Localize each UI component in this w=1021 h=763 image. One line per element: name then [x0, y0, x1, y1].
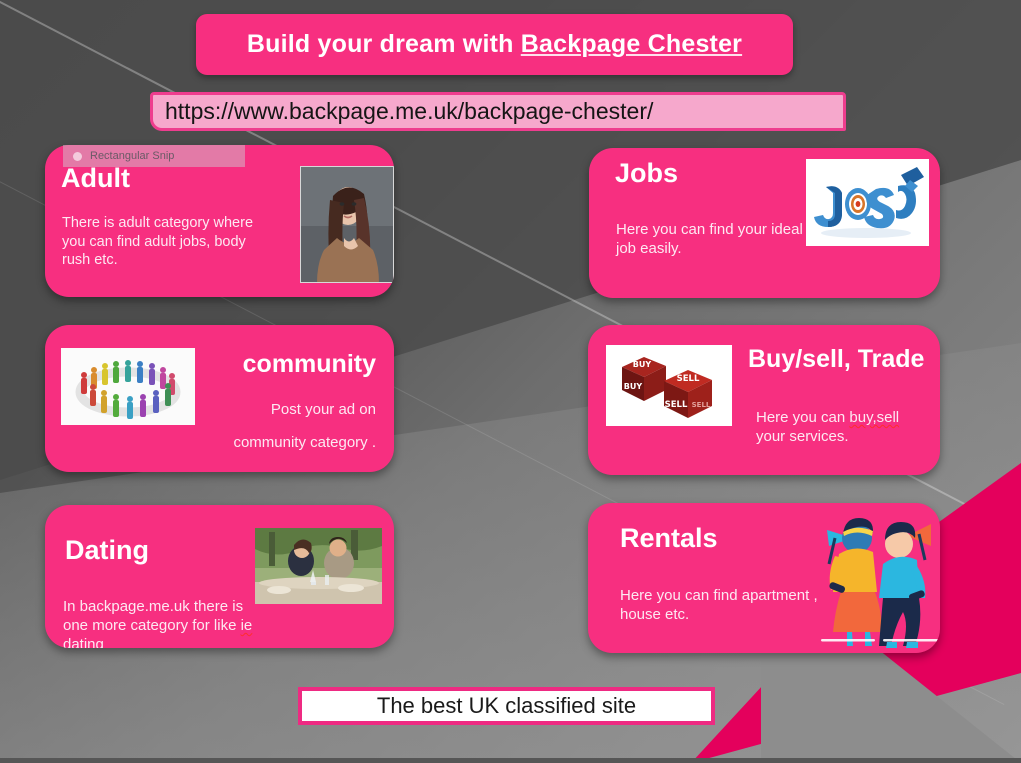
slide-title-brand: Backpage Chester — [521, 30, 742, 58]
card-title-adult: Adult — [61, 163, 130, 194]
dating-couple-photo — [255, 528, 382, 604]
slide-title: Build your dream with Backpage Chester — [247, 30, 742, 59]
slide-title-plain: Build your dream with — [247, 30, 521, 58]
card-body-dating-misspelled: ie — [241, 617, 253, 634]
card-body-dating: In backpage.me.uk there is one more cate… — [63, 597, 293, 648]
card-body-trade-line2: your services. — [756, 427, 936, 446]
card-body-dating-line3: dating — [63, 635, 293, 648]
category-card-adult[interactable]: Adult There is adult category where you … — [45, 145, 394, 297]
url-bar[interactable]: https://www.backpage.me.uk/backpage-ches… — [150, 92, 846, 131]
presentation-slide: Build your dream with Backpage Chester h… — [0, 0, 1021, 763]
card-title-rentals: Rentals — [620, 523, 718, 554]
card-body-trade-line1: Here you can buy,sell — [756, 408, 936, 427]
svg-text:SELL: SELL — [677, 374, 700, 384]
card-body-jobs: Here you can find your ideal job easily. — [616, 220, 806, 258]
card-body-dating-line2: one more category for like ie — [63, 616, 293, 635]
community-people-ring-image — [61, 348, 195, 425]
snip-dot-icon — [73, 152, 82, 161]
category-card-trade[interactable]: Buy/sell, Trade Here you can buy,sell yo… — [588, 325, 940, 475]
card-title-trade: Buy/sell, Trade — [748, 345, 924, 374]
adult-portrait-photo — [300, 166, 394, 283]
svg-text:BUY: BUY — [624, 382, 643, 391]
footer-banner: The best UK classified site — [298, 687, 715, 725]
snip-tooltip-label: Rectangular Snip — [90, 150, 174, 162]
card-body-community: Post your ad on community category . — [186, 400, 376, 452]
category-card-jobs[interactable]: Jobs Here you can find your ideal job ea… — [589, 148, 940, 298]
url-text: https://www.backpage.me.uk/backpage-ches… — [165, 98, 653, 125]
jobs-3d-text-image — [806, 159, 929, 246]
rectangular-snip-tooltip: Rectangular Snip — [63, 145, 245, 167]
card-title-dating: Dating — [65, 535, 149, 566]
title-banner: Build your dream with Backpage Chester — [196, 14, 793, 75]
card-body-community-line2: community category . — [186, 433, 376, 452]
buy-sell-dice-image: BUY BUY SELL SELL SELL — [606, 345, 732, 426]
card-body-trade-misspelled: buy,sell — [849, 409, 899, 426]
card-body-rentals: Here you can find apartment , house etc. — [620, 586, 820, 624]
card-title-community: community — [243, 350, 376, 379]
footer-text: The best UK classified site — [377, 693, 636, 719]
card-title-jobs: Jobs — [615, 158, 678, 189]
svg-text:SELL: SELL — [665, 400, 688, 410]
card-body-community-line1: Post your ad on — [186, 400, 376, 419]
rentals-dancing-people-illustration — [813, 508, 940, 648]
category-card-community[interactable]: community Post your ad on community cate… — [45, 325, 394, 472]
category-card-dating[interactable]: Dating In backpage.me.uk there is one mo… — [45, 505, 394, 648]
card-body-adult: There is adult category where you can fi… — [62, 214, 267, 270]
svg-text:SELL: SELL — [692, 401, 711, 409]
svg-text:BUY: BUY — [633, 360, 652, 369]
card-body-trade: Here you can buy,sell your services. — [756, 408, 936, 446]
category-card-rentals[interactable]: Rentals Here you can find apartment , ho… — [588, 503, 940, 653]
slide-bottom-edge — [0, 758, 1021, 763]
